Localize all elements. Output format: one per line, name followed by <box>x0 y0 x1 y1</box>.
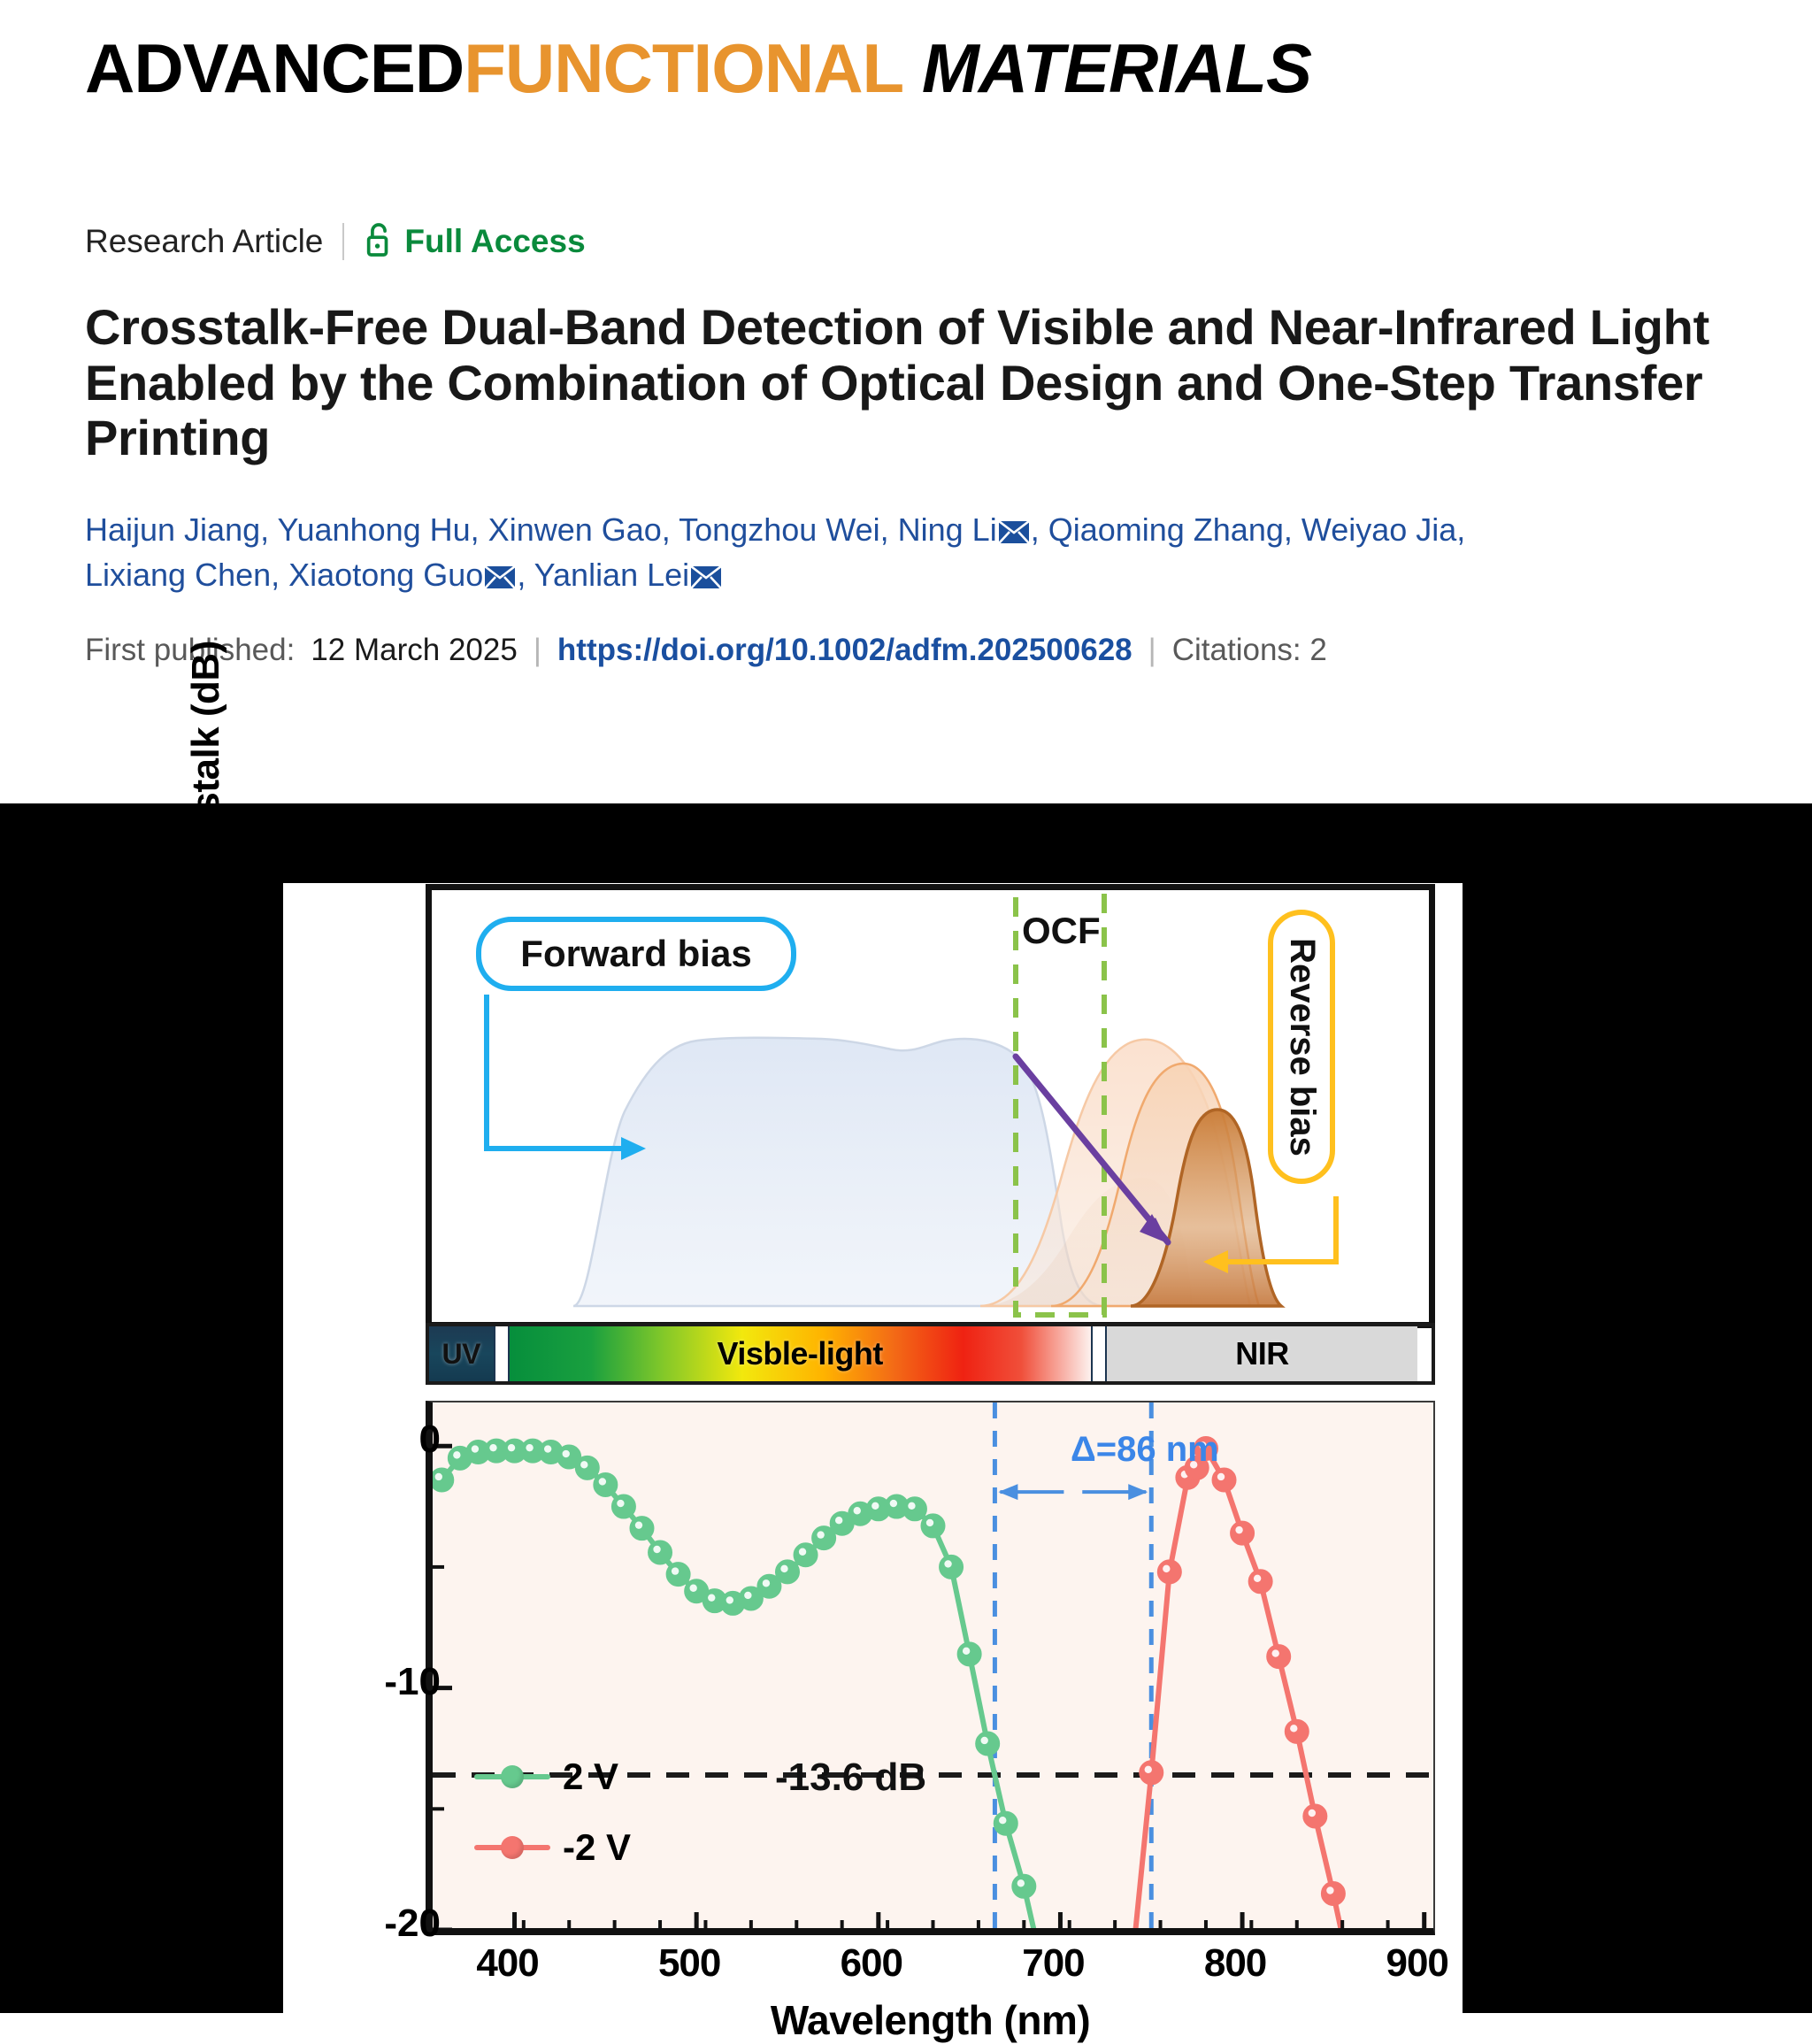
x-tick-label: 500 <box>627 1941 751 1986</box>
visible-response-curve <box>573 1038 1104 1306</box>
reverse-bias-callout[interactable]: Reverse bias <box>1268 910 1335 1184</box>
series-line--2V <box>1133 1448 1352 1928</box>
legend-label-2v: 2 V <box>563 1756 618 1798</box>
spectrum-nir-label: NIR <box>1235 1335 1289 1372</box>
x-axis-label: Wavelength (nm) <box>426 1996 1435 2044</box>
page-title: Crosstalk-Free Dual-Band Detection of Vi… <box>85 300 1727 466</box>
logo-functional: FUNCTIONAL <box>464 29 903 107</box>
access-label: Full Access <box>404 223 585 260</box>
data-point <box>1267 1645 1290 1668</box>
x-tick-label: 700 <box>991 1941 1115 1986</box>
forward-bias-label: Forward bias <box>520 933 751 975</box>
journal-masthead: ADVANCEDFUNCTIONAL MATERIALS <box>0 0 1812 155</box>
data-point <box>1286 1720 1309 1743</box>
x-tick-label: 600 <box>810 1941 933 1986</box>
legend-label-minus2v: -2 V <box>563 1826 631 1869</box>
x-tick-label: 900 <box>1355 1941 1479 1986</box>
data-point <box>1249 1570 1272 1593</box>
delta-annotation: Δ=86 nm <box>1071 1430 1219 1470</box>
data-point <box>1158 1560 1181 1583</box>
figure-card[interactable]: Forward bias OCF Reverse bias UV Visble-… <box>283 883 1463 2013</box>
spectrum-gap-1 <box>494 1326 510 1381</box>
threshold-annotation: -13.6 dB <box>775 1756 926 1800</box>
y-tick-label: -20 <box>317 1902 441 1946</box>
data-point <box>1231 1522 1254 1545</box>
spectrum-gap-2 <box>1091 1326 1107 1381</box>
first-published-date: 12 March 2025 <box>311 633 517 668</box>
legend-swatch-minus2v <box>474 1845 550 1850</box>
ocf-label: OCF <box>1022 910 1101 952</box>
spectrum-band-nir: NIR <box>1107 1326 1417 1381</box>
open-lock-icon <box>364 220 394 264</box>
doi-link[interactable]: https://doi.org/10.1002/adfm.202500628 <box>557 633 1132 668</box>
y-tick-label: 0 <box>317 1418 441 1462</box>
data-point <box>922 1514 945 1537</box>
data-point <box>1140 1761 1163 1784</box>
data-point <box>1303 1805 1326 1828</box>
data-point <box>1322 1882 1345 1905</box>
data-point <box>940 1556 963 1579</box>
spectrum-bar: UV Visble-light NIR <box>426 1323 1435 1385</box>
logo-materials: MATERIALS <box>922 29 1311 107</box>
data-point <box>903 1497 926 1520</box>
x-ticks <box>515 1912 1424 1928</box>
email-icon[interactable] <box>999 510 1029 532</box>
x-tick-label: 400 <box>446 1941 570 1986</box>
email-icon[interactable] <box>691 555 721 577</box>
spectrum-visible-label: Visble-light <box>718 1335 883 1372</box>
data-point <box>976 1732 999 1755</box>
y-tick-label: -10 <box>317 1660 441 1704</box>
authors-line-2[interactable]: Lixiang Chen, Xiaotong Guo <box>85 557 483 593</box>
citations-count[interactable]: Citations: 2 <box>1172 633 1327 668</box>
pubinfo-divider-1: | <box>534 633 541 668</box>
legend-swatch-2v <box>474 1774 550 1779</box>
x-tick-label: 800 <box>1173 1941 1297 1986</box>
delta-arrows <box>998 1484 1148 1500</box>
data-point <box>776 1560 799 1583</box>
authors-line-1[interactable]: Haijun Jiang, Yuanhong Hu, Xinwen Gao, T… <box>85 511 997 548</box>
legend-item-minus2v[interactable]: -2 V <box>474 1826 631 1869</box>
data-point <box>612 1495 635 1518</box>
data-point <box>630 1517 653 1540</box>
data-point <box>1012 1875 1035 1898</box>
data-point <box>795 1543 818 1566</box>
journal-logo[interactable]: ADVANCEDFUNCTIONAL MATERIALS <box>85 34 1812 103</box>
meta-divider <box>342 223 344 260</box>
spectrum-band-visible: Visble-light <box>510 1326 1091 1381</box>
legend-item-2v[interactable]: 2 V <box>474 1756 618 1798</box>
publication-info: First published: 12 March 2025 | https:/… <box>85 633 1727 668</box>
email-icon[interactable] <box>485 555 515 577</box>
author-list: Haijun Jiang, Yuanhong Hu, Xinwen Gao, T… <box>85 507 1727 597</box>
spectrum-uv-label: UV <box>442 1338 480 1371</box>
spectrum-band-uv: UV <box>429 1326 494 1381</box>
pubinfo-divider-2: | <box>1148 633 1156 668</box>
data-point <box>994 1812 1017 1835</box>
authors-line-1b[interactable]: , Qiaoming Zhang, Weiyao Jia, <box>1031 511 1466 548</box>
data-point <box>433 1468 453 1491</box>
data-point <box>958 1642 981 1665</box>
forward-bias-callout[interactable]: Forward bias <box>476 917 796 991</box>
data-point <box>1213 1468 1236 1491</box>
article-header: Research Article Full Access Crosstalk-F… <box>0 220 1812 668</box>
figure-band: Forward bias OCF Reverse bias UV Visble-… <box>0 803 1812 2013</box>
data-point <box>576 1456 599 1479</box>
article-type-label: Research Article <box>85 223 323 260</box>
authors-line-2b[interactable]: , Yanlian Lei <box>517 557 689 593</box>
y-axis-label: Crosstalk (dB) <box>184 580 228 961</box>
data-point <box>667 1563 690 1586</box>
schematic-panel: Forward bias OCF Reverse bias <box>426 884 1435 1328</box>
logo-advanced: ADVANCED <box>85 29 464 107</box>
data-point <box>649 1541 672 1564</box>
access-badge[interactable]: Full Access <box>364 220 585 264</box>
data-point <box>594 1473 617 1496</box>
article-meta-row: Research Article Full Access <box>85 220 1727 263</box>
reverse-bias-label: Reverse bias <box>1282 938 1322 1156</box>
